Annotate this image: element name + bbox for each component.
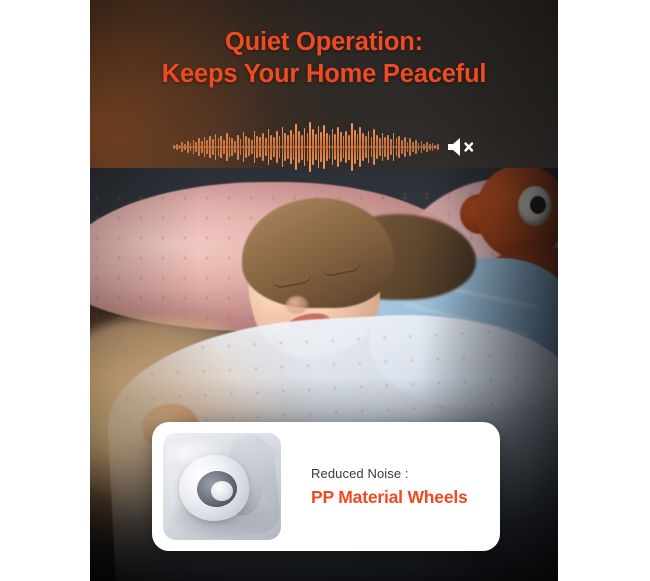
pp-material-wheel-photo — [163, 433, 281, 540]
waveform-bar — [209, 136, 211, 158]
waveform-bar — [379, 138, 381, 155]
waveform-bar — [234, 141, 236, 153]
waveform-bar — [326, 133, 328, 162]
waveform-bar — [337, 127, 339, 168]
waveform-bar — [312, 129, 314, 165]
waveform-bar — [320, 132, 322, 162]
waveform-bar — [415, 140, 417, 155]
waveform-bar — [398, 136, 400, 158]
waveform-bar — [184, 144, 186, 150]
waveform-bar — [218, 138, 220, 156]
waveform-bar — [287, 135, 289, 159]
waveform-bar — [212, 139, 214, 155]
waveform-bar — [273, 137, 275, 157]
sound-visual — [90, 118, 558, 176]
waveform-bar — [290, 130, 292, 164]
waveform-bar — [206, 140, 208, 153]
waveform-bar — [298, 131, 300, 164]
creative-panel: Quiet Operation: Keeps Your Home Peacefu… — [90, 0, 558, 581]
waveform-bar — [362, 133, 364, 162]
page-title: Quiet Operation: Keeps Your Home Peacefu… — [90, 26, 558, 90]
waveform-bar — [359, 127, 361, 167]
waveform-bar — [187, 141, 189, 153]
waveform-bar — [404, 137, 406, 157]
waveform-bar — [245, 136, 247, 157]
waveform-bar — [423, 144, 425, 151]
wheel-hub — [211, 481, 233, 501]
waveform-bar — [270, 135, 272, 160]
waveform-bar — [409, 138, 411, 155]
waveform-bar — [284, 133, 286, 162]
waveform-bar — [276, 131, 278, 163]
waveform-bar — [231, 138, 233, 155]
wheel-highlight — [175, 443, 229, 465]
waveform-bar — [315, 134, 317, 160]
waveform-bar — [429, 144, 431, 149]
feature-card-text: Reduced Noise : PP Material Wheels — [311, 466, 500, 508]
waveform-bar — [237, 135, 239, 160]
waveform-bar — [387, 135, 389, 160]
waveform-bar — [332, 129, 334, 166]
feature-card-headline: PP Material Wheels — [311, 487, 500, 508]
waveform-bar — [401, 140, 403, 153]
waveform-bar — [295, 124, 297, 170]
waveform-bar — [426, 142, 428, 151]
waveform-bar — [262, 133, 264, 161]
waveform-bar — [259, 137, 261, 157]
waveform-bar — [354, 130, 356, 164]
waveform-bar — [434, 145, 436, 149]
waveform-bar — [181, 142, 183, 151]
waveform-bar — [412, 142, 414, 151]
waveform-bar — [384, 137, 386, 157]
waveform-bar — [220, 136, 222, 158]
waveform-bar — [256, 136, 258, 158]
waveform-bar — [365, 136, 367, 158]
waveform-bar — [248, 138, 250, 156]
waveform-bar — [243, 132, 245, 162]
waveform-bar — [265, 138, 267, 155]
waveform-bar — [282, 127, 284, 168]
waveform-bar — [195, 142, 197, 152]
waveform-bar — [334, 134, 336, 160]
waveform-bar — [371, 137, 373, 157]
feature-card-eyebrow: Reduced Noise : — [311, 466, 500, 481]
waveform-bar — [340, 132, 342, 162]
waveform-bar — [301, 135, 303, 160]
headline-line-1: Quiet Operation: — [90, 26, 558, 58]
speaker-muted-icon — [445, 134, 475, 160]
waveform-bar — [176, 144, 178, 151]
waveform-bar — [348, 135, 350, 160]
waveform-bar — [173, 145, 175, 149]
waveform-bar — [376, 135, 378, 159]
feature-card[interactable]: Reduced Noise : PP Material Wheels — [152, 422, 500, 551]
waveform-bar — [396, 138, 398, 156]
waveform-bar — [193, 140, 195, 155]
product-banner: Quiet Operation: Keeps Your Home Peacefu… — [0, 0, 650, 581]
waveform-bar — [323, 125, 325, 170]
waveform-bar — [201, 141, 203, 153]
waveform-bar — [373, 129, 375, 165]
waveform-bar — [226, 133, 228, 162]
waveform-bar — [351, 123, 353, 170]
headline-line-2: Keeps Your Home Peaceful — [90, 58, 558, 90]
waveform-bar — [251, 140, 253, 153]
waveform-bar — [390, 139, 392, 155]
waveform-bar — [345, 131, 347, 164]
waveform-bar — [437, 144, 439, 149]
waveform-bar — [198, 138, 200, 155]
audio-waveform — [173, 121, 439, 173]
waveform-bar — [421, 141, 423, 153]
waveform-bar — [223, 140, 225, 155]
waveform-bar — [307, 133, 309, 161]
